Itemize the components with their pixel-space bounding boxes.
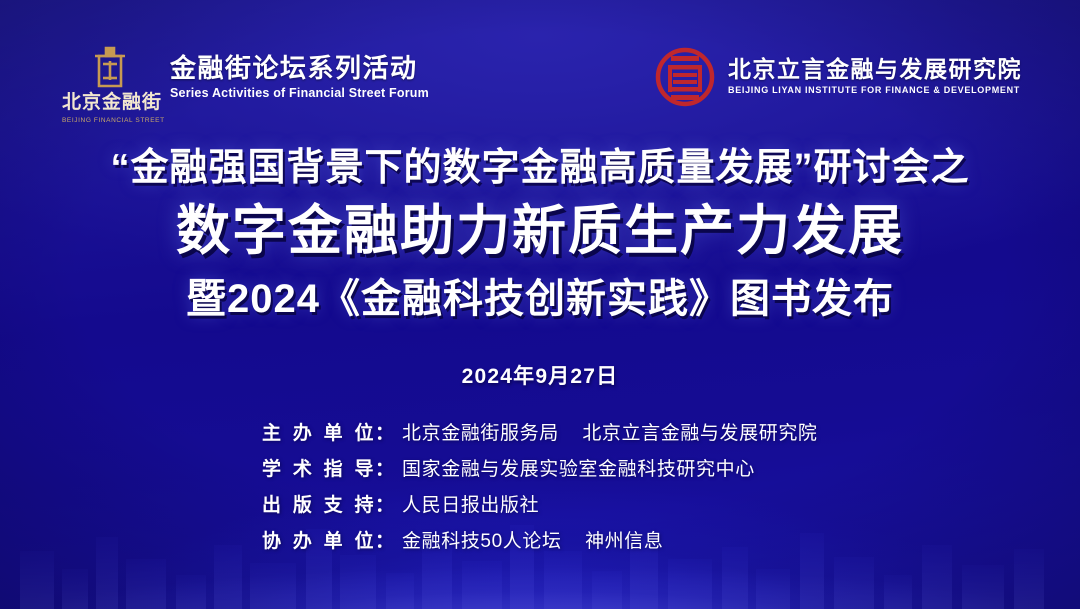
credit-label: 出版支持 [262,490,374,517]
event-poster: 北京金融街 BEIJING FINANCIAL STREET 金融街论坛系列活动… [0,0,1080,609]
credit-label: 协办单位 [262,526,374,553]
credit-value: 北京金融街服务局 北京立言金融与发展研究院 [402,418,818,445]
credits-block: 主办单位 ： 北京金融街服务局 北京立言金融与发展研究院 学术指导 ： 国家金融… [0,418,1080,553]
poster-header: 北京金融街 BEIJING FINANCIAL STREET 金融街论坛系列活动… [0,42,1080,122]
credit-label: 学术指导 [262,454,374,481]
credit-label: 主办单位 [262,418,374,445]
institute-name-cn: 北京立言金融与发展研究院 [728,57,1022,82]
bfs-text-block: 金融街论坛系列活动 Series Activities of Financial… [170,42,429,100]
credit-row: 学术指导 ： 国家金融与发展实验室金融科技研究中心 [262,454,818,481]
credit-colon: ： [375,526,394,553]
liyan-text-block: 北京立言金融与发展研究院 BEIJING LIYAN INSTITUTE FOR… [728,57,1022,97]
credit-colon: ： [375,454,394,481]
logo-beijing-financial-street: 北京金融街 BEIJING FINANCIAL STREET 金融街论坛系列活动… [62,42,429,124]
credit-value: 金融科技50人论坛 神州信息 [402,526,663,553]
gate-emblem-icon [91,44,129,90]
bfs-mark-en: BEIJING FINANCIAL STREET [62,117,158,124]
forum-title-cn: 金融街论坛系列活动 [170,54,429,83]
liyan-seal-icon [654,46,716,108]
title-line-3: 暨2024《金融科技创新实践》图书发布 [0,275,1080,324]
credit-value: 国家金融与发展实验室金融科技研究中心 [402,454,755,481]
title-line-2-main: 数字金融助力新质生产力发展 [0,199,1080,265]
credit-colon: ： [375,418,394,445]
credit-row: 协办单位 ： 金融科技50人论坛 神州信息 [262,526,818,553]
event-date: 2024年9月27日 [0,360,1080,390]
bfs-mark: 北京金融街 BEIJING FINANCIAL STREET [62,42,158,124]
poster-titles: “金融强国背景下的数字金融高质量发展”研讨会之 数字金融助力新质生产力发展 暨2… [0,145,1080,324]
credit-row: 主办单位 ： 北京金融街服务局 北京立言金融与发展研究院 [262,418,818,445]
forum-title-en: Series Activities of Financial Street Fo… [170,86,429,100]
credit-colon: ： [375,490,394,517]
logo-liyan-institute: 北京立言金融与发展研究院 BEIJING LIYAN INSTITUTE FOR… [654,46,1022,108]
title-line-1: “金融强国背景下的数字金融高质量发展”研讨会之 [0,145,1080,191]
credit-row: 出版支持 ： 人民日报出版社 [262,490,818,517]
bfs-mark-cn: 北京金融街 [62,93,158,114]
institute-name-en: BEIJING LIYAN INSTITUTE FOR FINANCE & DE… [728,85,1022,95]
credit-value: 人民日报出版社 [402,490,539,517]
